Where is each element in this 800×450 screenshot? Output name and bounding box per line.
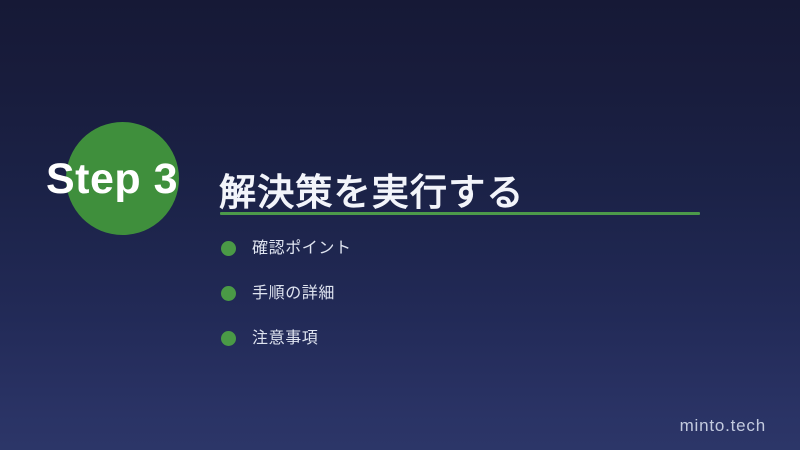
page-title: 解決策を実行する (219, 169, 525, 217)
list-item: 手順の詳細 (220, 283, 352, 328)
list-item: 注意事項 (220, 328, 352, 373)
title-divider (220, 212, 700, 215)
slide-canvas: Step 3 解決策を実行する 確認ポイント 手順の詳細 注意事項 minto.… (0, 0, 800, 450)
bullet-dot-icon (221, 331, 236, 346)
bullet-dot-icon (221, 241, 236, 256)
footer-brand: minto.tech (680, 416, 766, 436)
bullet-list: 確認ポイント 手順の詳細 注意事項 (220, 238, 352, 373)
list-item: 確認ポイント (220, 238, 352, 283)
bullet-dot-icon (221, 286, 236, 301)
list-item-label: 確認ポイント (252, 238, 352, 259)
list-item-label: 注意事項 (252, 328, 318, 349)
list-item-label: 手順の詳細 (252, 283, 335, 304)
step-badge-label: Step 3 (46, 152, 206, 206)
